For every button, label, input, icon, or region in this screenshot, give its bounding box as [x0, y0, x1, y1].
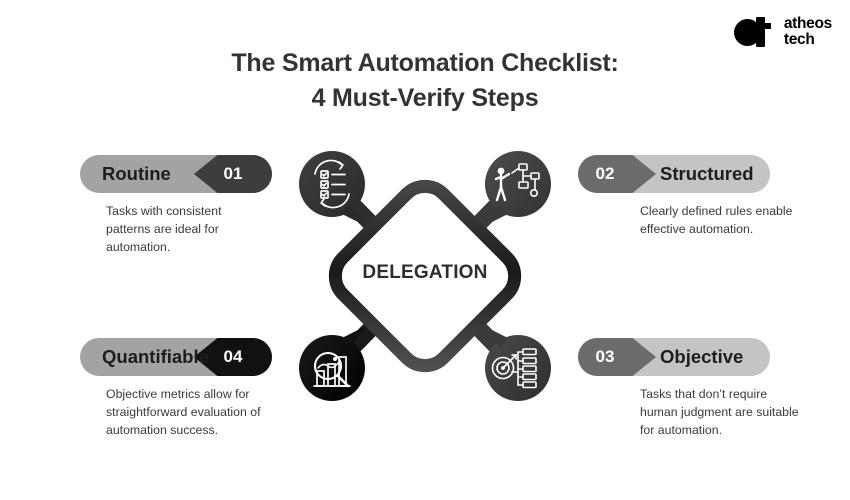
- step-description-01: Tasks with consistent patterns are ideal…: [106, 202, 266, 257]
- pill-chevron-02: [578, 155, 656, 193]
- brand-name-line1: atheos: [784, 16, 832, 32]
- pill-number-area-02: 02: [578, 155, 656, 193]
- step-pill-01[interactable]: 01 Routine: [80, 155, 272, 193]
- step-label-04: Quantifiable: [102, 346, 209, 368]
- step-card-03: 03 Objective Tasks that don’t require hu…: [578, 338, 778, 440]
- step-card-02: 02 Structured Clearly defined rules enab…: [578, 155, 778, 238]
- step-label-03: Objective: [660, 346, 743, 368]
- hub-node-quantifiable[interactable]: [299, 326, 366, 401]
- step-label-02: Structured: [660, 163, 754, 185]
- step-number-03: 03: [596, 347, 615, 367]
- atheos-at-monogram-icon: [734, 17, 778, 47]
- delegation-hub: DELEGATION: [290, 140, 560, 412]
- step-description-02: Clearly defined rules enable effective a…: [640, 202, 800, 238]
- step-number-04: 04: [224, 347, 243, 367]
- pill-number-area-03: 03: [578, 338, 656, 376]
- logo-crossbar-shape: [751, 23, 771, 29]
- step-pill-04[interactable]: 04 Quantifiable: [80, 338, 272, 376]
- step-description-04: Objective metrics allow for straightforw…: [106, 385, 266, 440]
- logo-stem-shape: [756, 17, 765, 47]
- hub-node-routine[interactable]: [299, 151, 366, 226]
- step-description-03: Tasks that don’t require human judgment …: [640, 385, 800, 440]
- page-title-line1: The Smart Automation Checklist:: [0, 46, 850, 81]
- step-label-01: Routine: [102, 163, 171, 185]
- step-card-04: 04 Quantifiable Objective metrics allow …: [80, 338, 280, 440]
- step-number-01: 01: [224, 164, 243, 184]
- page-title-line2: 4 Must-Verify Steps: [0, 81, 850, 116]
- pill-number-area-01: 01: [194, 155, 272, 193]
- step-pill-02[interactable]: 02 Structured: [578, 155, 770, 193]
- step-card-01: 01 Routine Tasks with consistent pattern…: [80, 155, 280, 257]
- step-number-02: 02: [596, 164, 615, 184]
- hub-center-label: DELEGATION: [290, 262, 560, 284]
- brand-wordmark: atheos tech: [784, 16, 832, 48]
- pill-chevron-03: [578, 338, 656, 376]
- brand-logo: atheos tech: [734, 16, 832, 48]
- page-title: The Smart Automation Checklist: 4 Must-V…: [0, 46, 850, 115]
- step-pill-03[interactable]: 03 Objective: [578, 338, 770, 376]
- hub-node-structured[interactable]: [484, 151, 551, 226]
- hub-node-objective[interactable]: [484, 326, 551, 401]
